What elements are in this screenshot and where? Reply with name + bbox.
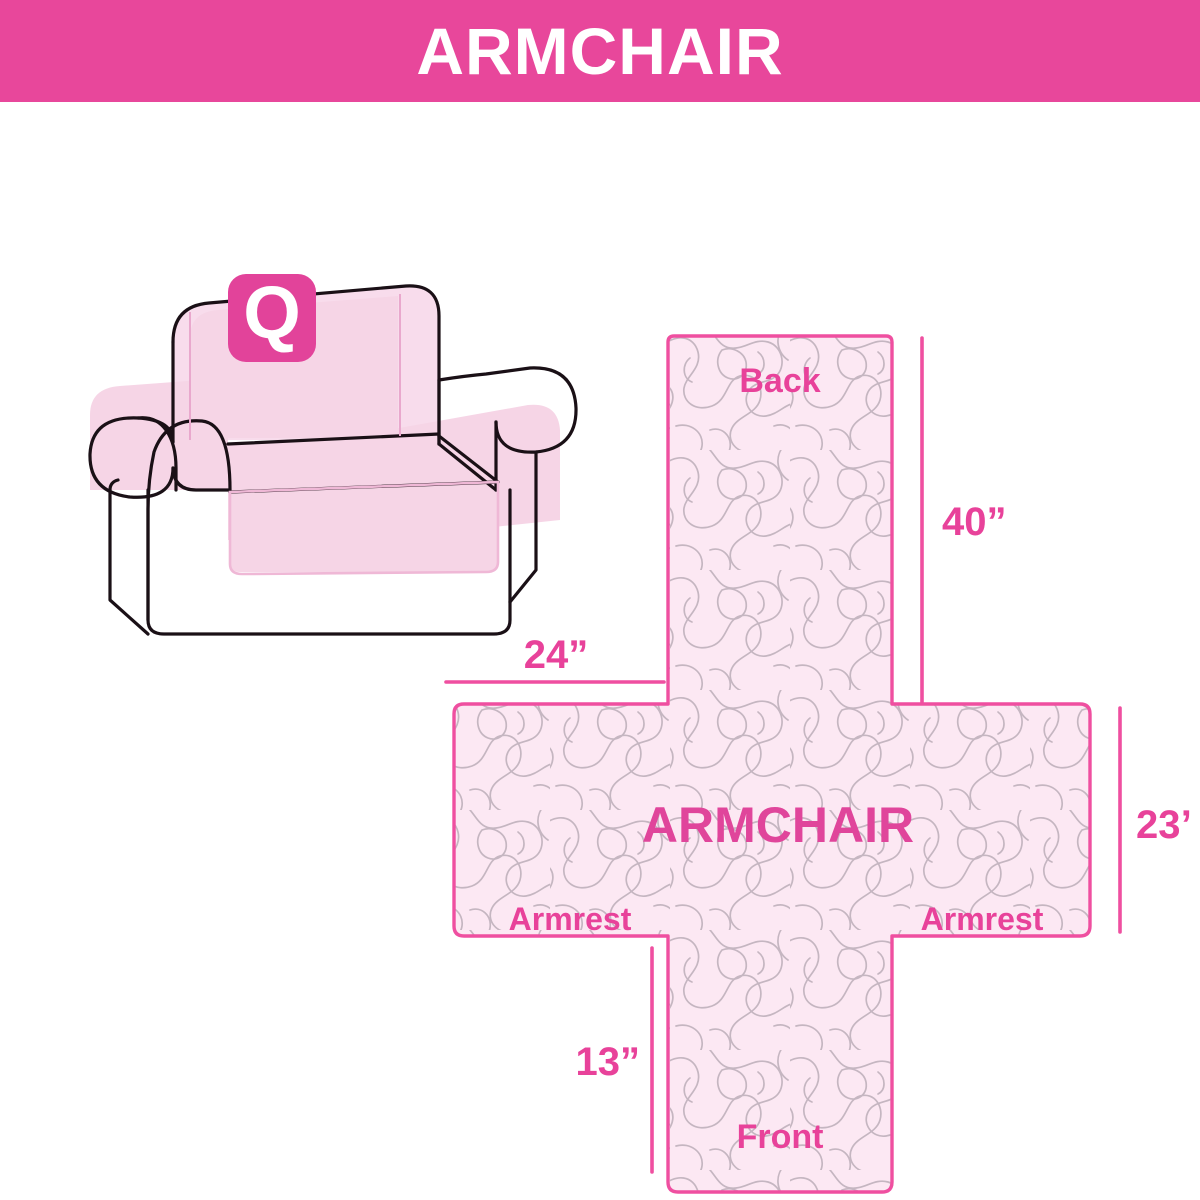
brand-logo: Q (228, 271, 316, 362)
page-title: ARMCHAIR (416, 18, 783, 84)
content-area: Q (0, 102, 1200, 1200)
dimension-value-23: 23” (1136, 803, 1190, 847)
panel-label-back: Back (739, 362, 820, 400)
panel-label-armrest-left: Armrest (509, 901, 632, 937)
cross-shape (454, 336, 1090, 1192)
dimension-armrest-width: 24” (446, 633, 664, 682)
header-banner: ARMCHAIR (0, 0, 1200, 102)
slipcover-diagram: Back Armrest Armrest Front ARMCHAIR 40” … (430, 330, 1190, 1200)
panel-label-armrest-right: Armrest (921, 901, 1044, 937)
diagram-center-label: ARMCHAIR (642, 797, 914, 853)
chair-left-arm-fill (90, 378, 228, 490)
dimension-value-40: 40” (942, 500, 1007, 544)
panel-label-front: Front (737, 1118, 824, 1156)
cross-outline (454, 336, 1090, 1192)
dimension-value-24-top: 24” (524, 633, 589, 677)
dimension-value-13: 13” (576, 1040, 641, 1084)
logo-letter: Q (243, 271, 301, 354)
dimension-seat-depth: 23” (1120, 708, 1190, 932)
dimension-back-height: 40” (922, 338, 1007, 702)
dimension-front-height: 13” (576, 948, 653, 1172)
